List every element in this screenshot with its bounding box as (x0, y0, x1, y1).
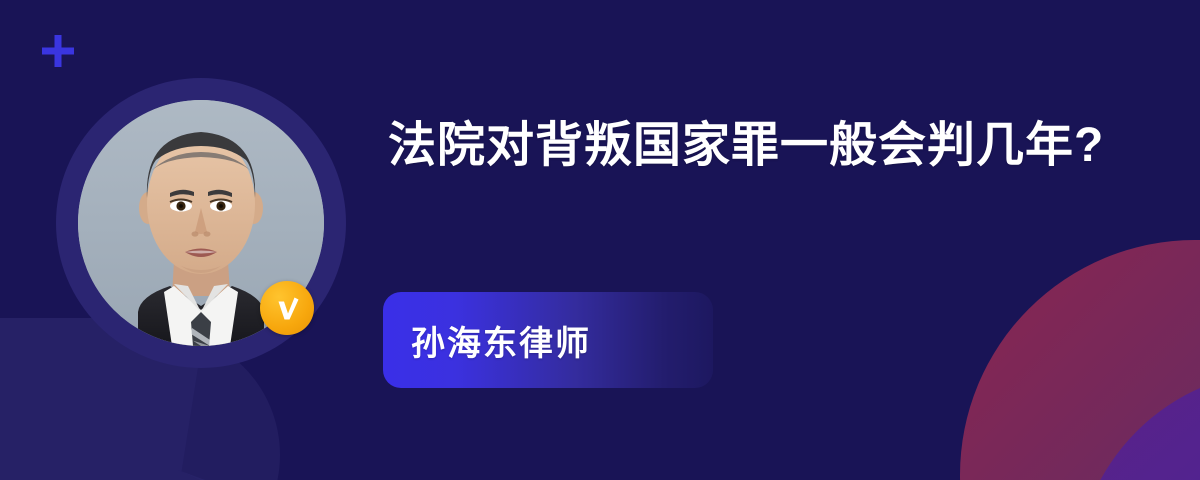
wedge-polygon-shape-back (178, 470, 478, 480)
avatar[interactable] (56, 78, 346, 368)
purple-blob-shape (1075, 370, 1200, 480)
legal-qa-banner: 法院对背叛国家罪一般会判几年? 孙海东律师 (0, 0, 1200, 480)
headline-block: 法院对背叛国家罪一般会判几年? (388, 112, 1178, 180)
wedge-polygon-shape (178, 470, 438, 480)
plus-icon (40, 33, 76, 69)
lawyer-name-label: 孙海东律师 (383, 316, 591, 365)
crimson-blob-shape (960, 240, 1200, 480)
verified-badge-icon (260, 281, 314, 335)
lawyer-name-button[interactable]: 孙海东律师 (383, 292, 713, 388)
page-title: 法院对背叛国家罪一般会判几年? (388, 112, 1108, 180)
